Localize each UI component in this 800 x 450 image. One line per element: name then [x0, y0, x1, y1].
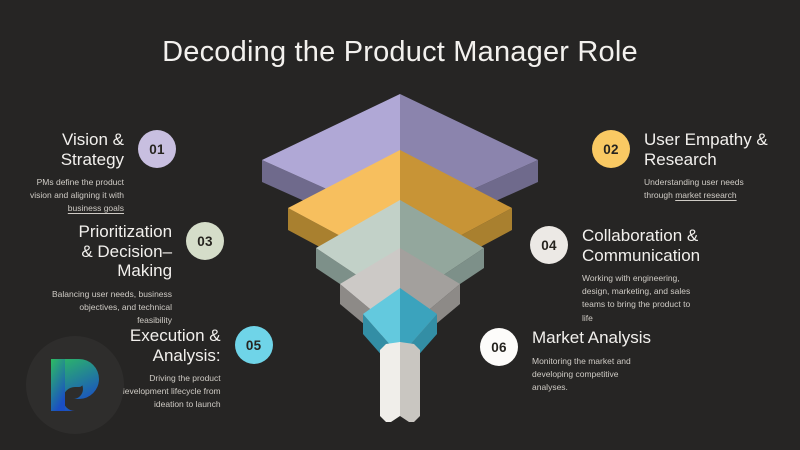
- item-01-badge: 01: [138, 130, 176, 168]
- item-04-heading: Collaboration & Communication: [582, 226, 700, 265]
- item-05-heading: Execution & Analysis:: [130, 326, 221, 365]
- item-01-body: PMs define the product vision and aligni…: [30, 176, 124, 216]
- brand-logo-icon: [43, 353, 107, 417]
- item-05-body: Driving the product development lifecycl…: [120, 372, 221, 412]
- item-04-body: Working with engineering, design, market…: [582, 272, 690, 325]
- funnel-item-06[interactable]: 06 Market Analysis Monitoring the market…: [480, 328, 690, 394]
- funnel-item-02[interactable]: 02 User Empathy & Research Understanding…: [592, 130, 792, 202]
- stem-left-face: [380, 342, 400, 422]
- item-02-badge: 02: [592, 130, 630, 168]
- item-04-texts: Collaboration & Communication Working wi…: [582, 226, 700, 325]
- funnel-item-05[interactable]: Execution & Analysis: Driving the produc…: [120, 326, 315, 412]
- item-01-heading: Vision & Strategy: [61, 130, 124, 169]
- item-06-badge: 06: [480, 328, 518, 366]
- brand-logo[interactable]: [26, 336, 124, 434]
- item-05-texts: Execution & Analysis: Driving the produc…: [120, 326, 221, 412]
- item-01-body-pre: PMs define the product vision and aligni…: [30, 177, 124, 200]
- item-06-texts: Market Analysis Monitoring the market an…: [532, 328, 651, 394]
- item-02-heading: User Empathy & Research: [644, 130, 768, 169]
- stem-right-face: [400, 342, 420, 422]
- funnel-item-03[interactable]: Prioritization & Decision– Making Balanc…: [52, 222, 262, 327]
- item-01-texts: Vision & Strategy PMs define the product…: [30, 130, 124, 216]
- item-02-body-link[interactable]: market research: [675, 190, 736, 200]
- item-03-badge: 03: [186, 222, 224, 260]
- item-02-texts: User Empathy & Research Understanding us…: [644, 130, 768, 202]
- funnel-stem: [380, 342, 420, 422]
- item-03-heading: Prioritization & Decision– Making: [78, 222, 172, 281]
- funnel-item-01[interactable]: Vision & Strategy PMs define the product…: [30, 130, 220, 216]
- page-title: Decoding the Product Manager Role: [0, 36, 800, 69]
- item-02-body: Understanding user needs through market …: [644, 176, 744, 202]
- item-01-body-link[interactable]: business goals: [68, 203, 124, 213]
- item-04-badge: 04: [530, 226, 568, 264]
- funnel-item-04[interactable]: 04 Collaboration & Communication Working…: [530, 226, 745, 325]
- item-06-body: Monitoring the market and developing com…: [532, 355, 631, 395]
- item-06-heading: Market Analysis: [532, 328, 651, 348]
- item-03-texts: Prioritization & Decision– Making Balanc…: [52, 222, 172, 327]
- item-05-badge: 05: [235, 326, 273, 364]
- item-03-body: Balancing user needs, business objective…: [52, 288, 172, 328]
- logo-inner-notch: [51, 359, 65, 411]
